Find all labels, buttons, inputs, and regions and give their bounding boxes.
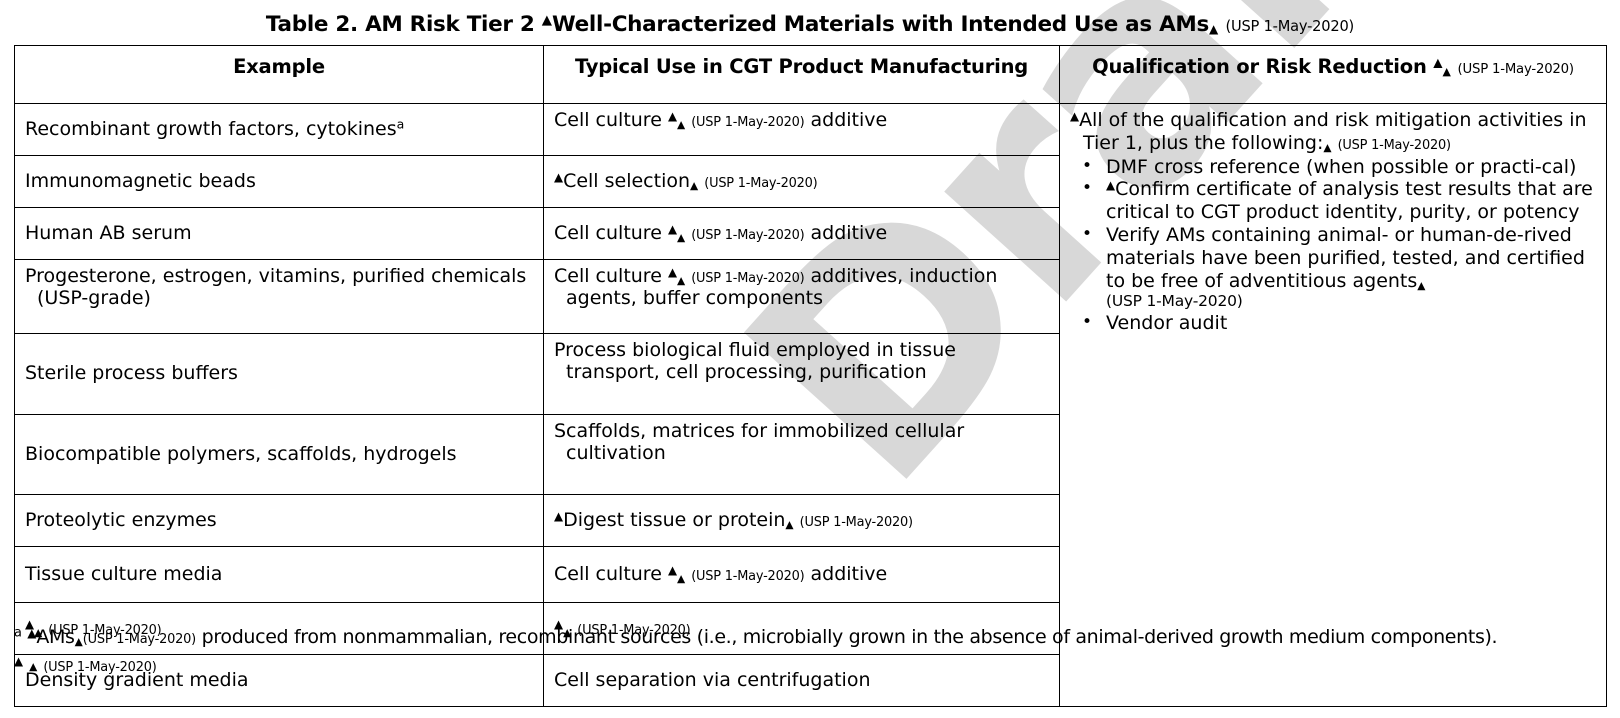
bullet-icon: • <box>1082 178 1092 198</box>
use-changed-text: Cell selection <box>563 170 690 192</box>
use-changed-text: Digest tissue or protein <box>563 509 785 531</box>
footnote-a: a ▲AMs▲(USP 1-May-2020) produced from no… <box>14 627 1614 649</box>
use-prefix: Cell culture <box>554 222 668 244</box>
change-mark-close-icon: ▲ <box>785 518 793 531</box>
change-mark-close-icon: ▲ <box>690 179 698 192</box>
use-prefix: Cell culture <box>554 563 668 585</box>
example-text: Recombinant growth factors, cytokines <box>25 118 397 140</box>
change-mark-open-icon: ▲ <box>668 109 677 123</box>
example-line-1: Progesterone, estrogen, vitamins, purifi… <box>25 265 425 287</box>
cell-example-5: Sterile process buffers <box>15 334 544 415</box>
title-prefix: Table 2. AM Risk Tier 2 <box>266 12 542 37</box>
cell-example-6: Biocompatible polymers, scaffolds, hydro… <box>15 415 544 495</box>
footnote-changed-word: AMs <box>36 626 74 648</box>
qualification-header-reference: (USP 1-May-2020) <box>1458 62 1574 77</box>
change-mark-open-icon: ▲ <box>554 509 563 523</box>
column-header-example: Example <box>15 46 544 104</box>
qualification-lead-line1: All of the qualification and risk mitiga… <box>1079 109 1563 131</box>
usp-reference: (USP 1-May-2020) <box>800 515 913 530</box>
change-mark-open-icon: ▲ <box>668 563 677 577</box>
title-changed-text: Well-Characterized Materials with Intend… <box>552 12 1209 37</box>
change-mark-close-icon: ▲ <box>1323 141 1331 154</box>
trailing-usp-reference: (USP 1-May-2020) <box>43 660 156 675</box>
use-text: Process biological fluid employed in tis… <box>554 339 1049 384</box>
bullet-icon: • <box>1082 312 1092 332</box>
bullet-icon: • <box>1082 156 1092 176</box>
page-title: Table 2. AM Risk Tier 2 ▲Well-Characteri… <box>0 12 1620 37</box>
bullet-usp-reference: (USP 1-May-2020) <box>1106 292 1596 311</box>
list-item: •Verify AMs containing animal- or human-… <box>1070 224 1596 312</box>
bullet-text: Confirm certificate of analysis test res… <box>1106 178 1593 223</box>
change-mark-open-icon: ▲ <box>542 13 552 28</box>
title-usp-reference: (USP 1-May-2020) <box>1225 18 1354 35</box>
list-item: •▲Confirm certificate of analysis test r… <box>1070 178 1596 224</box>
qualification-lead: ▲All of the qualification and risk mitig… <box>1070 109 1596 155</box>
list-item: •DMF cross reference (when possible or p… <box>1070 156 1596 179</box>
cell-example-3: Human AB serum <box>15 208 544 260</box>
footnote-rest: produced from nonmammalian, recombinant … <box>196 626 1497 648</box>
usp-reference: (USP 1-May-2020) <box>691 569 804 584</box>
change-mark-close-icon: ▲ <box>677 274 685 287</box>
cell-example-8: Tissue culture media <box>15 547 544 603</box>
cell-use-3: Cell culture ▲▲ (USP 1-May-2020) additiv… <box>544 208 1060 260</box>
footnote-usp-reference: (USP 1-May-2020) <box>83 632 196 647</box>
table-row: Recombinant growth factors, cytokinesa C… <box>15 104 1607 156</box>
am-risk-tier-2-table: Example Typical Use in CGT Product Manuf… <box>14 45 1607 707</box>
footnote-reference: a <box>397 117 405 132</box>
cell-use-7: ▲Digest tissue or protein▲ (USP 1-May-20… <box>544 495 1060 547</box>
bullet-icon: • <box>1082 224 1092 244</box>
cell-example-2: Immunomagnetic beads <box>15 156 544 208</box>
change-mark-close-icon: ▲ <box>677 231 685 244</box>
change-mark-close-icon: ▲ <box>75 635 83 648</box>
change-mark-close-icon: ▲ <box>1417 278 1425 291</box>
use-suffix: additive <box>804 222 887 244</box>
change-mark-open-icon: ▲ <box>27 626 36 640</box>
bullet-text: Verify AMs containing animal- or human-d… <box>1106 224 1585 292</box>
example-text: Progesterone, estrogen, vitamins, purifi… <box>25 265 533 310</box>
use-text: Scaffolds, matrices for immobilized cell… <box>554 420 1049 465</box>
change-mark-close-icon: ▲ <box>677 118 685 131</box>
change-mark-close-icon: ▲ <box>677 572 685 585</box>
document-page: Table 2. AM Risk Tier 2 ▲Well-Characteri… <box>0 0 1620 718</box>
qualification-lead-reference: (USP 1-May-2020) <box>1338 138 1451 153</box>
usp-reference: (USP 1-May-2020) <box>691 271 804 286</box>
usp-reference: (USP 1-May-2020) <box>691 228 804 243</box>
change-mark-open-icon: ▲ <box>1070 109 1079 123</box>
cell-use-8: Cell culture ▲▲ (USP 1-May-2020) additiv… <box>544 547 1060 603</box>
cell-qualification: ▲All of the qualification and risk mitig… <box>1060 104 1607 707</box>
column-header-typical-use: Typical Use in CGT Product Manufacturing <box>544 46 1060 104</box>
change-mark-close-icon: ▲ <box>29 660 37 673</box>
change-mark-open-icon: ▲ <box>554 170 563 184</box>
column-header-qualification: Qualification or Risk Reduction ▲▲ (USP … <box>1060 46 1607 104</box>
usp-reference: (USP 1-May-2020) <box>691 115 804 130</box>
change-mark-open-icon: ▲ <box>668 265 677 279</box>
qualification-header-text: Qualification or Risk Reduction <box>1092 55 1433 78</box>
qualification-bullet-list: •DMF cross reference (when possible or p… <box>1070 156 1596 335</box>
footnote-trailing-mark: ▲ ▲ (USP 1-May-2020) <box>14 655 1614 676</box>
bullet-text: DMF cross reference (when possible or pr… <box>1106 156 1576 178</box>
table-header-row: Example Typical Use in CGT Product Manuf… <box>15 46 1607 104</box>
cell-example-4: Progesterone, estrogen, vitamins, purifi… <box>15 260 544 334</box>
cell-use-5: Process biological fluid employed in tis… <box>544 334 1060 415</box>
change-mark-open-icon: ▲ <box>1433 56 1442 70</box>
footnotes: a ▲AMs▲(USP 1-May-2020) produced from no… <box>14 627 1614 676</box>
change-mark-open-icon: ▲ <box>668 222 677 236</box>
cell-use-1: Cell culture ▲▲ (USP 1-May-2020) additiv… <box>544 104 1060 156</box>
list-item: •Vendor audit <box>1070 312 1596 335</box>
change-mark-open-icon: ▲ <box>1106 178 1115 192</box>
change-mark-close-icon: ▲ <box>1209 22 1218 36</box>
use-prefix: Cell culture <box>554 109 668 131</box>
use-prefix: Cell culture <box>554 265 668 287</box>
usp-reference: (USP 1-May-2020) <box>704 176 817 191</box>
use-suffix: additive <box>804 109 887 131</box>
cell-example-7: Proteolytic enzymes <box>15 495 544 547</box>
bullet-text: Vendor audit <box>1106 312 1227 334</box>
use-suffix: additive <box>804 563 887 585</box>
change-mark-open-icon: ▲ <box>14 654 23 668</box>
cell-use-6: Scaffolds, matrices for immobilized cell… <box>544 415 1060 495</box>
cell-example-1: Recombinant growth factors, cytokinesa <box>15 104 544 156</box>
cell-use-2: ▲Cell selection▲ (USP 1-May-2020) <box>544 156 1060 208</box>
footnote-marker: a <box>14 625 22 640</box>
change-mark-close-icon: ▲ <box>1443 65 1451 78</box>
cell-use-4: Cell culture ▲▲ (USP 1-May-2020) additiv… <box>544 260 1060 334</box>
